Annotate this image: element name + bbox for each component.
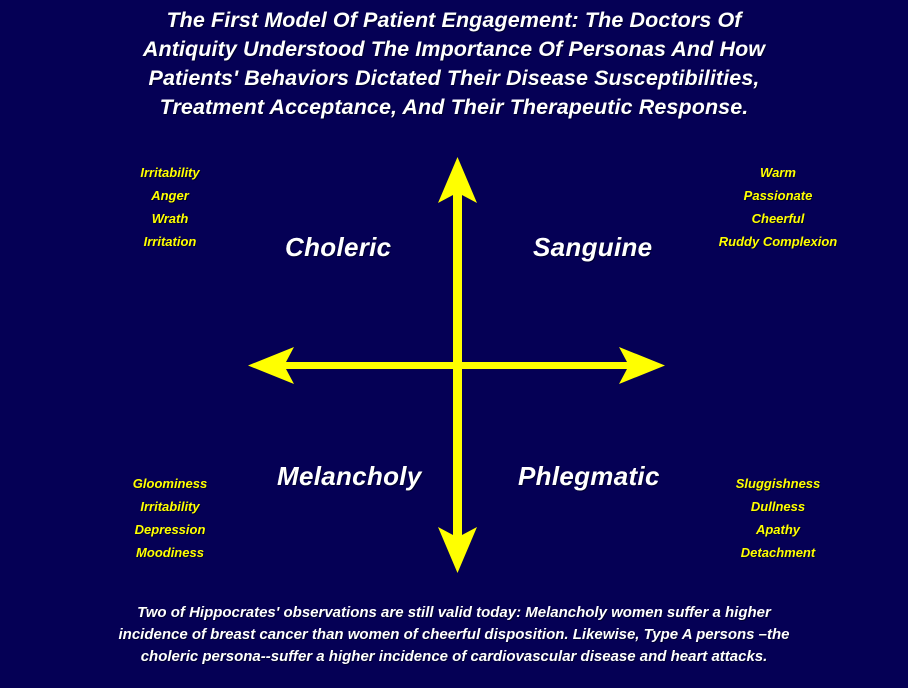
quadrant-label-melancholy: Melancholy: [277, 461, 422, 492]
trait-item: Passionate: [688, 184, 868, 207]
title-line-4: Treatment Acceptance, And Their Therapeu…: [54, 93, 854, 122]
trait-item: Anger: [80, 184, 260, 207]
trait-item: Dullness: [688, 495, 868, 518]
quadrant-label-phlegmatic: Phlegmatic: [518, 461, 660, 492]
trait-list-melancholy: Gloominess Irritability Depression Moodi…: [80, 472, 260, 564]
trait-item: Gloominess: [80, 472, 260, 495]
footnote-line-1: Two of Hippocrates' observations are sti…: [44, 602, 864, 624]
trait-item: Depression: [80, 518, 260, 541]
vertical-arrow: [438, 157, 477, 573]
trait-item: Apathy: [688, 518, 868, 541]
trait-item: Ruddy Complexion: [688, 230, 868, 253]
trait-item: Irritability: [80, 495, 260, 518]
page-title: The First Model Of Patient Engagement: T…: [54, 6, 854, 122]
trait-item: Cheerful: [688, 207, 868, 230]
trait-list-phlegmatic: Sluggishness Dullness Apathy Detachment: [688, 472, 868, 564]
trait-item: Detachment: [688, 541, 868, 564]
footnote-line-2: incidence of breast cancer than women of…: [44, 624, 864, 646]
title-line-3: Patients' Behaviors Dictated Their Disea…: [54, 64, 854, 93]
trait-item: Irritation: [80, 230, 260, 253]
trait-item: Irritability: [80, 161, 260, 184]
trait-item: Warm: [688, 161, 868, 184]
footnote-line-3: choleric persona--suffer a higher incide…: [44, 646, 864, 668]
trait-list-choleric: Irritability Anger Wrath Irritation: [80, 161, 260, 253]
title-line-1: The First Model Of Patient Engagement: T…: [54, 6, 854, 35]
slide-canvas: The First Model Of Patient Engagement: T…: [0, 0, 908, 688]
quadrant-label-choleric: Choleric: [285, 232, 391, 263]
trait-item: Moodiness: [80, 541, 260, 564]
footnote: Two of Hippocrates' observations are sti…: [44, 602, 864, 668]
title-line-2: Antiquity Understood The Importance Of P…: [54, 35, 854, 64]
trait-item: Sluggishness: [688, 472, 868, 495]
quadrant-label-sanguine: Sanguine: [533, 232, 652, 263]
trait-list-sanguine: Warm Passionate Cheerful Ruddy Complexio…: [688, 161, 868, 253]
trait-item: Wrath: [80, 207, 260, 230]
horizontal-arrow: [248, 347, 665, 384]
